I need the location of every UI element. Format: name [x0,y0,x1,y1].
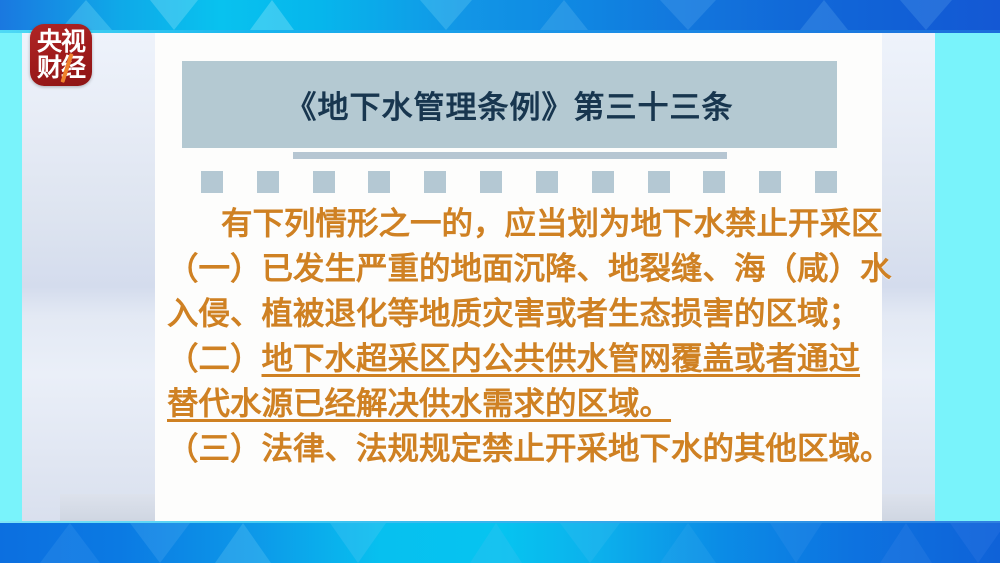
band-triangle-icon [150,0,198,30]
divider-square [536,171,558,193]
regulation-body: 有下列情形之一的，应当划为地下水禁止开采区 （一）已发生严重的地面沉降、地裂缝、… [167,201,872,471]
divider-square [759,171,781,193]
divider-square [424,171,446,193]
title-accent-bar [293,152,727,159]
title-bar: 《地下水管理条例》第三十三条 [182,61,837,148]
band-triangle-icon [800,0,848,30]
regulation-line: 替代水源已经解决供水需求的区域。 [167,381,872,426]
regulation-line-prefix: （二） [167,340,262,376]
divider-square [592,171,614,193]
band-triangle-icon [540,0,588,30]
regulation-line: （二）地下水超采区内公共供水管网覆盖或者通过 [167,336,872,381]
regulation-card: 《地下水管理条例》第三十三条 有下列情形之一的，应当划为地下水禁止开采区 （一）… [155,33,882,521]
regulation-line-text: 有下列情形之一的，应当划为地下水禁止开采区 [221,205,883,241]
divider-square [648,171,670,193]
band-triangle-icon [330,523,386,563]
band-triangle-icon [560,523,620,563]
band-triangle-icon [130,523,190,563]
regulation-line-text-underlined: 替代水源已经解决供水需求的区域。 [167,385,671,421]
divider-square [815,171,837,193]
divider-square [480,171,502,193]
left-gutter [22,33,155,521]
band-triangle-icon [770,523,822,563]
regulation-line: （三）法律、法规规定禁止开采地下水的其他区域。 [167,426,872,471]
logo-line-1: 央视 [37,29,85,55]
regulation-line-text: （一）已发生严重的地面沉降、地裂缝、海（咸）水 [167,250,892,286]
right-bottom-tab [882,494,935,521]
right-cyan-rail [935,33,1000,521]
page-title: 《地下水管理条例》第三十三条 [286,82,734,127]
regulation-line: （一）已发生严重的地面沉降、地裂缝、海（咸）水 [167,246,872,291]
band-triangle-icon [470,523,522,563]
band-triangle-icon [420,0,472,30]
regulation-line: 有下列情形之一的，应当划为地下水禁止开采区 [167,201,872,246]
top-decorative-band [0,0,1000,30]
bottom-decorative-band [0,523,1000,563]
divider-square [703,171,725,193]
cctv-finance-logo: 央视 财经 [30,24,92,86]
divider-square [257,171,279,193]
band-triangle-icon [900,0,952,30]
square-divider-row [201,171,837,193]
regulation-line: 入侵、植被退化等地质灾害或者生态损害的区域； [167,291,872,336]
band-triangle-icon [660,0,716,30]
band-triangle-icon [250,0,294,30]
band-triangle-icon [880,523,932,563]
band-triangle-icon [950,523,1000,563]
divider-square [313,171,335,193]
regulation-line-text: 入侵、植被退化等地质灾害或者生态损害的区域； [167,295,860,331]
broadcast-screen: 《地下水管理条例》第三十三条 有下列情形之一的，应当划为地下水禁止开采区 （一）… [0,0,1000,563]
band-triangle-icon [215,523,271,563]
regulation-line-text: （三）法律、法规规定禁止开采地下水的其他区域。 [167,430,892,466]
band-triangle-icon [660,523,716,563]
divider-square [368,171,390,193]
left-cyan-rail [0,33,22,521]
divider-square [201,171,223,193]
regulation-line-text-underlined: 地下水超采区内公共供水管网覆盖或者通过 [262,340,861,376]
left-bottom-tab [60,494,155,521]
band-triangle-icon [40,523,100,563]
logo-line-2: 财经 [37,55,85,81]
